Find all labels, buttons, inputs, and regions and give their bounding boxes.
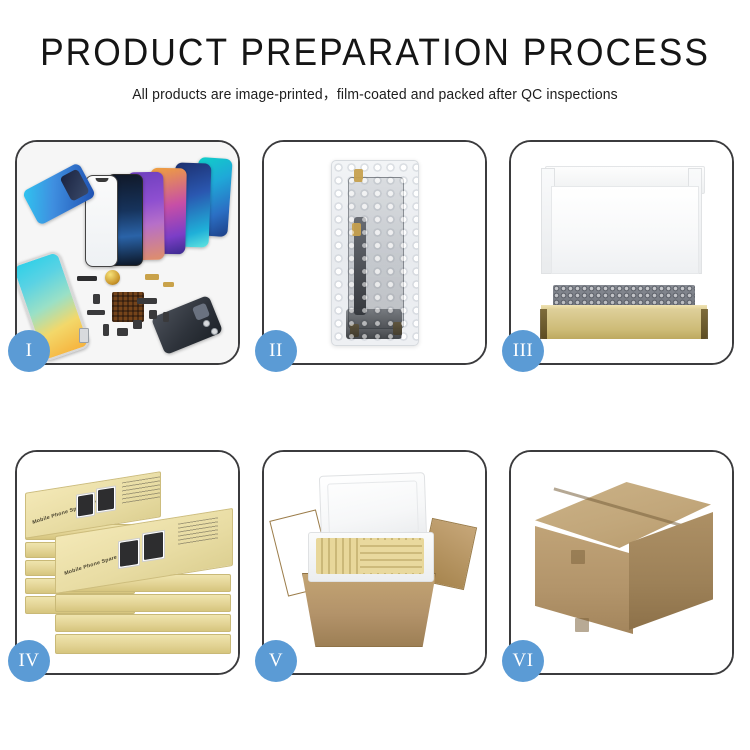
copper-coil-part [105, 270, 120, 285]
step-badge-5: V [255, 640, 297, 682]
panel-4-image: Mobile Phone Spare Parts Mobile Phone Sp… [17, 452, 238, 673]
page-title: PRODUCT PREPARATION PROCESS [26, 34, 724, 74]
process-step-panel-2: II [262, 140, 487, 365]
white-foam-sheet [551, 186, 699, 274]
panel-3-image [511, 142, 732, 363]
bubble-wrap-bag [331, 160, 419, 346]
panel-5-image [264, 452, 485, 673]
process-step-panel-1: I [15, 140, 240, 365]
header: PRODUCT PREPARATION PROCESS All products… [0, 34, 750, 104]
process-step-panel-4: Mobile Phone Spare Parts Mobile Phone Sp… [15, 450, 240, 675]
process-step-panel-3: III [509, 140, 734, 365]
panel-2-image [264, 142, 485, 363]
process-step-panel-6: VI [509, 450, 734, 675]
yellow-flat-box [541, 309, 707, 339]
panel-6-image [511, 452, 732, 673]
panel-1-image [17, 142, 238, 363]
step-badge-4: IV [8, 640, 50, 682]
page-subtitle: All products are image-printed，film-coat… [11, 83, 739, 104]
step-badge-6: VI [502, 640, 544, 682]
packed-yellow-boxes [360, 540, 422, 573]
step-badge-2: II [255, 330, 297, 372]
step-badge-3: III [502, 330, 544, 372]
product-preparation-infographic: PRODUCT PREPARATION PROCESS All products… [0, 0, 750, 750]
step-badge-1: I [8, 330, 50, 372]
process-step-grid: I II [15, 140, 735, 675]
stacked-boxes: Mobile Phone Spare Parts Mobile Phone Sp… [23, 466, 233, 666]
chip-array-part [112, 292, 144, 322]
carton-body [302, 573, 436, 647]
process-step-panel-5: V [262, 450, 487, 675]
